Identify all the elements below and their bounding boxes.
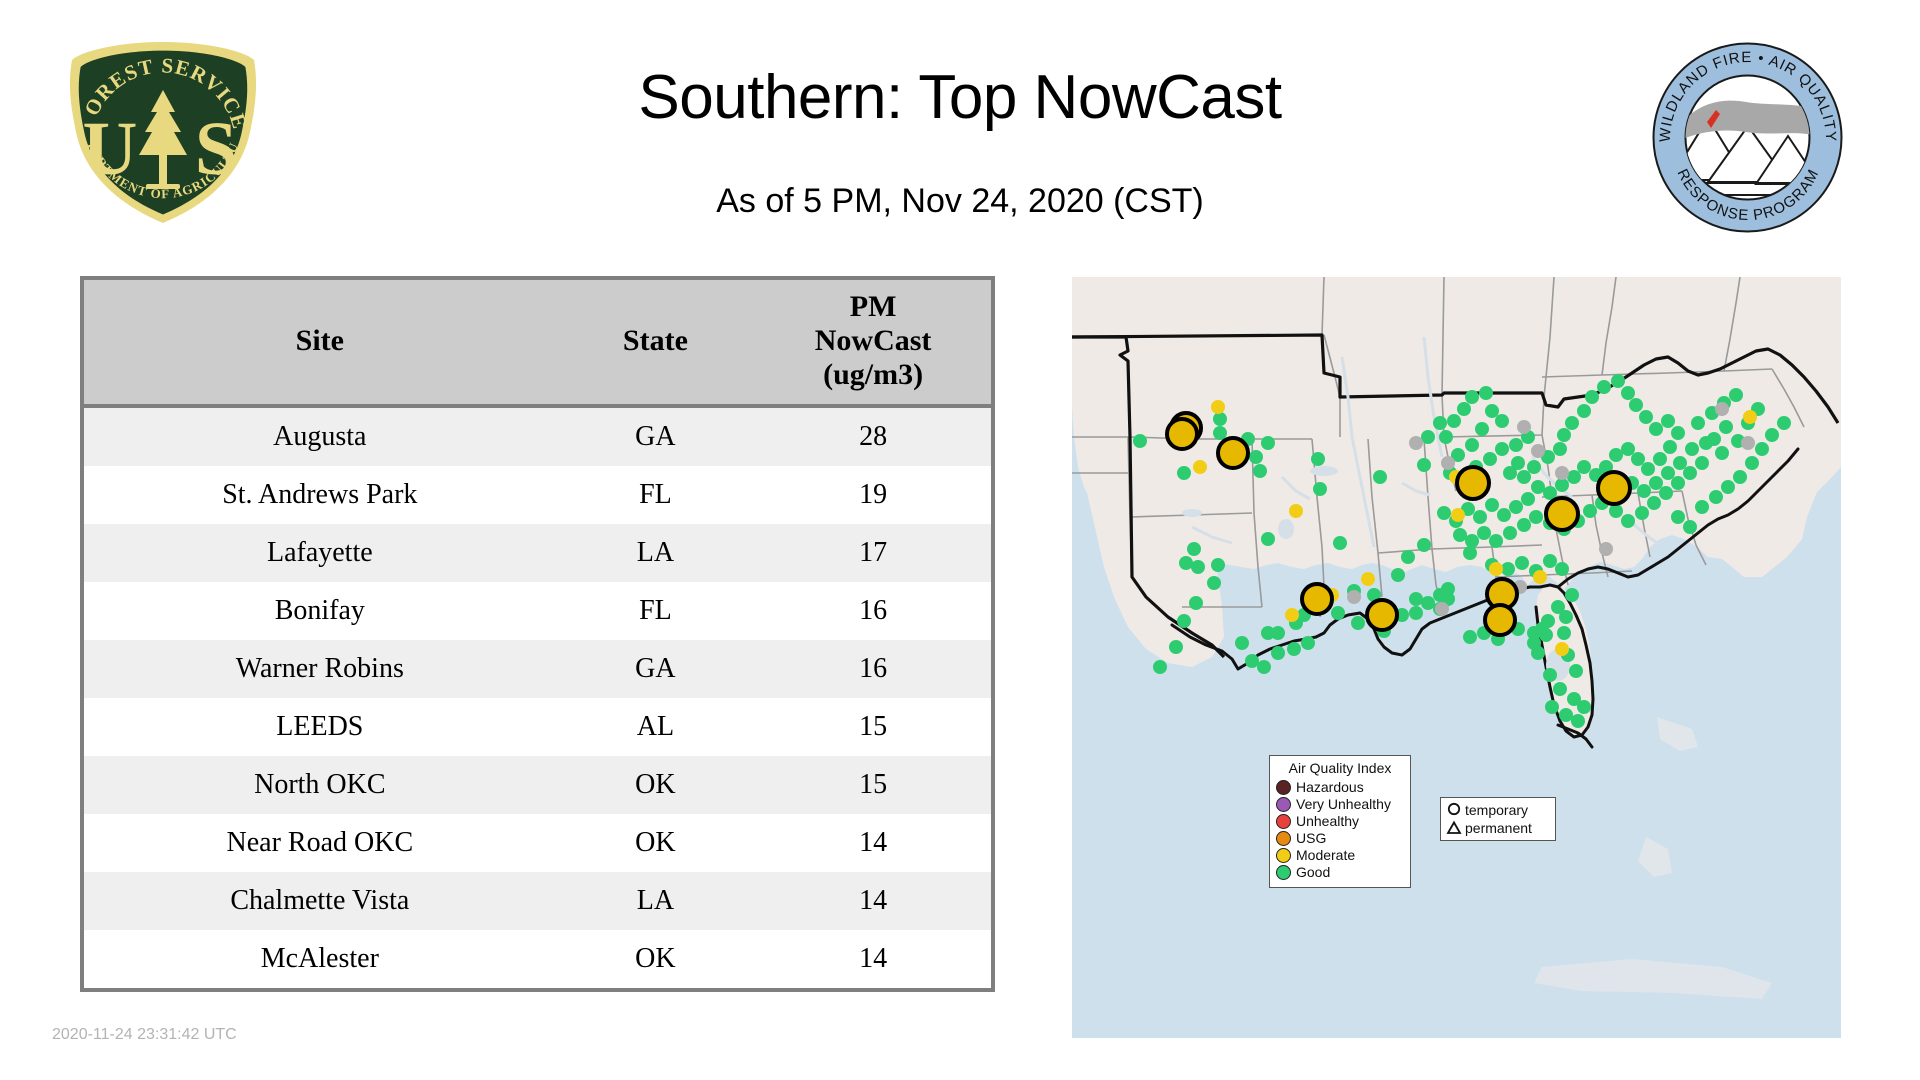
nowcast-table-container: Site State PM NowCast (ug/m3) AugustaGA2… bbox=[80, 276, 995, 992]
cell-site: McAlester bbox=[84, 930, 556, 988]
cell-state: FL bbox=[556, 582, 756, 640]
cell-pm: 16 bbox=[755, 582, 991, 640]
highlighted-monitor-st-andrews-park bbox=[1485, 605, 1515, 635]
aqi-legend-item-good: Good bbox=[1276, 864, 1404, 881]
highlighted-monitor-leeds bbox=[1457, 467, 1489, 499]
aqi-label-good: Good bbox=[1296, 865, 1330, 880]
column-header-pm-nowcast: PM NowCast (ug/m3) bbox=[755, 280, 991, 406]
cell-site: Bonifay bbox=[84, 582, 556, 640]
map-canvas[interactable] bbox=[1072, 277, 1841, 1038]
aqi-legend-item-usg: USG bbox=[1276, 830, 1404, 847]
aqi-swatch-moderate bbox=[1276, 848, 1291, 863]
air-quality-map[interactable]: Air Quality Index Hazardous Very Unhealt… bbox=[1072, 277, 1841, 1038]
cell-state: GA bbox=[556, 406, 756, 466]
aqi-label-usg: USG bbox=[1296, 831, 1326, 846]
aqi-label-moderate: Moderate bbox=[1296, 848, 1355, 863]
aqi-label-very-unhealthy: Very Unhealthy bbox=[1296, 797, 1391, 812]
cell-pm: 14 bbox=[755, 872, 991, 930]
cell-pm: 15 bbox=[755, 756, 991, 814]
cell-pm: 15 bbox=[755, 698, 991, 756]
symbol-label-temporary: temporary bbox=[1465, 803, 1528, 818]
highlighted-monitor-lafayette bbox=[1302, 584, 1332, 614]
cell-state: LA bbox=[556, 872, 756, 930]
column-header-site: Site bbox=[84, 280, 556, 406]
highlighted-monitor-near-road-okc bbox=[1167, 419, 1197, 449]
cell-pm: 14 bbox=[755, 930, 991, 988]
table-row: North OKCOK15 bbox=[84, 756, 991, 814]
highlighted-monitor-chalmette-vista bbox=[1367, 600, 1397, 630]
symbol-label-permanent: permanent bbox=[1465, 821, 1532, 836]
generation-timestamp: 2020-11-24 23:31:42 UTC bbox=[52, 1026, 237, 1044]
cell-site: LEEDS bbox=[84, 698, 556, 756]
aqi-legend: Air Quality Index Hazardous Very Unhealt… bbox=[1269, 755, 1411, 888]
cell-pm: 19 bbox=[755, 466, 991, 524]
cell-site: Lafayette bbox=[84, 524, 556, 582]
cell-pm: 16 bbox=[755, 640, 991, 698]
page-subtitle: As of 5 PM, Nov 24, 2020 (CST) bbox=[300, 180, 1620, 222]
column-header-state: State bbox=[556, 280, 756, 406]
highlighted-monitor-augusta bbox=[1598, 472, 1630, 504]
table-row: Chalmette VistaLA14 bbox=[84, 872, 991, 930]
aqi-label-unhealthy: Unhealthy bbox=[1296, 814, 1359, 829]
aqi-legend-item-hazardous: Hazardous bbox=[1276, 779, 1404, 796]
wfaqrp-logo: WILDLAND FIRE • AIR QUALITY RESPONSE PRO… bbox=[1650, 40, 1845, 235]
svg-text:S: S bbox=[195, 107, 237, 191]
table-row: McAlesterOK14 bbox=[84, 930, 991, 988]
pm-header-line-2: NowCast bbox=[755, 324, 991, 358]
table-row: Warner RobinsGA16 bbox=[84, 640, 991, 698]
cell-state: OK bbox=[556, 930, 756, 988]
table-row: Near Road OKCOK14 bbox=[84, 814, 991, 872]
cell-state: OK bbox=[556, 814, 756, 872]
cell-site: Warner Robins bbox=[84, 640, 556, 698]
aqi-legend-title: Air Quality Index bbox=[1276, 760, 1404, 776]
highlighted-monitor-warner-robins bbox=[1546, 498, 1578, 530]
symbol-legend: temporary permanent bbox=[1440, 797, 1556, 841]
aqi-swatch-very-unhealthy bbox=[1276, 797, 1291, 812]
table-row: St. Andrews ParkFL19 bbox=[84, 466, 991, 524]
table-row: BonifayFL16 bbox=[84, 582, 991, 640]
aqi-swatch-unhealthy bbox=[1276, 814, 1291, 829]
cell-pm: 14 bbox=[755, 814, 991, 872]
cell-site: Near Road OKC bbox=[84, 814, 556, 872]
circle-icon bbox=[1446, 802, 1462, 818]
table-row: LEEDSAL15 bbox=[84, 698, 991, 756]
page-title: Southern: Top NowCast bbox=[300, 62, 1620, 134]
triangle-icon bbox=[1446, 820, 1462, 836]
table-row: AugustaGA28 bbox=[84, 406, 991, 466]
aqi-swatch-hazardous bbox=[1276, 780, 1291, 795]
cell-pm: 17 bbox=[755, 524, 991, 582]
aqi-legend-item-moderate: Moderate bbox=[1276, 847, 1404, 864]
cell-state: LA bbox=[556, 524, 756, 582]
pm-header-line-3: (ug/m3) bbox=[755, 358, 991, 392]
aqi-swatch-usg bbox=[1276, 831, 1291, 846]
svg-text:U: U bbox=[83, 107, 138, 191]
cell-state: AL bbox=[556, 698, 756, 756]
aqi-label-hazardous: Hazardous bbox=[1296, 780, 1364, 795]
nowcast-table: Site State PM NowCast (ug/m3) AugustaGA2… bbox=[84, 280, 991, 988]
symbol-legend-item-temporary: temporary bbox=[1446, 801, 1550, 819]
cell-site: Augusta bbox=[84, 406, 556, 466]
cell-pm: 28 bbox=[755, 406, 991, 466]
symbol-legend-item-permanent: permanent bbox=[1446, 819, 1550, 837]
aqi-swatch-good bbox=[1276, 865, 1291, 880]
table-header-row: Site State PM NowCast (ug/m3) bbox=[84, 280, 991, 406]
cell-site: North OKC bbox=[84, 756, 556, 814]
table-header: Site State PM NowCast (ug/m3) bbox=[84, 280, 991, 406]
table-row: LafayetteLA17 bbox=[84, 524, 991, 582]
pm-header-line-1: PM bbox=[755, 290, 991, 324]
cell-site: St. Andrews Park bbox=[84, 466, 556, 524]
cell-state: FL bbox=[556, 466, 756, 524]
cell-state: OK bbox=[556, 756, 756, 814]
cell-site: Chalmette Vista bbox=[84, 872, 556, 930]
highlighted-monitor-north-okc bbox=[1218, 438, 1248, 468]
table-body: AugustaGA28 St. Andrews ParkFL19 Lafayet… bbox=[84, 406, 991, 988]
cell-state: GA bbox=[556, 640, 756, 698]
usfs-shield-logo: FOREST SERVICE DEPARTMENT OF AGRICULTURE… bbox=[58, 38, 268, 228]
aqi-legend-item-unhealthy: Unhealthy bbox=[1276, 813, 1404, 830]
aqi-legend-item-very-unhealthy: Very Unhealthy bbox=[1276, 796, 1404, 813]
